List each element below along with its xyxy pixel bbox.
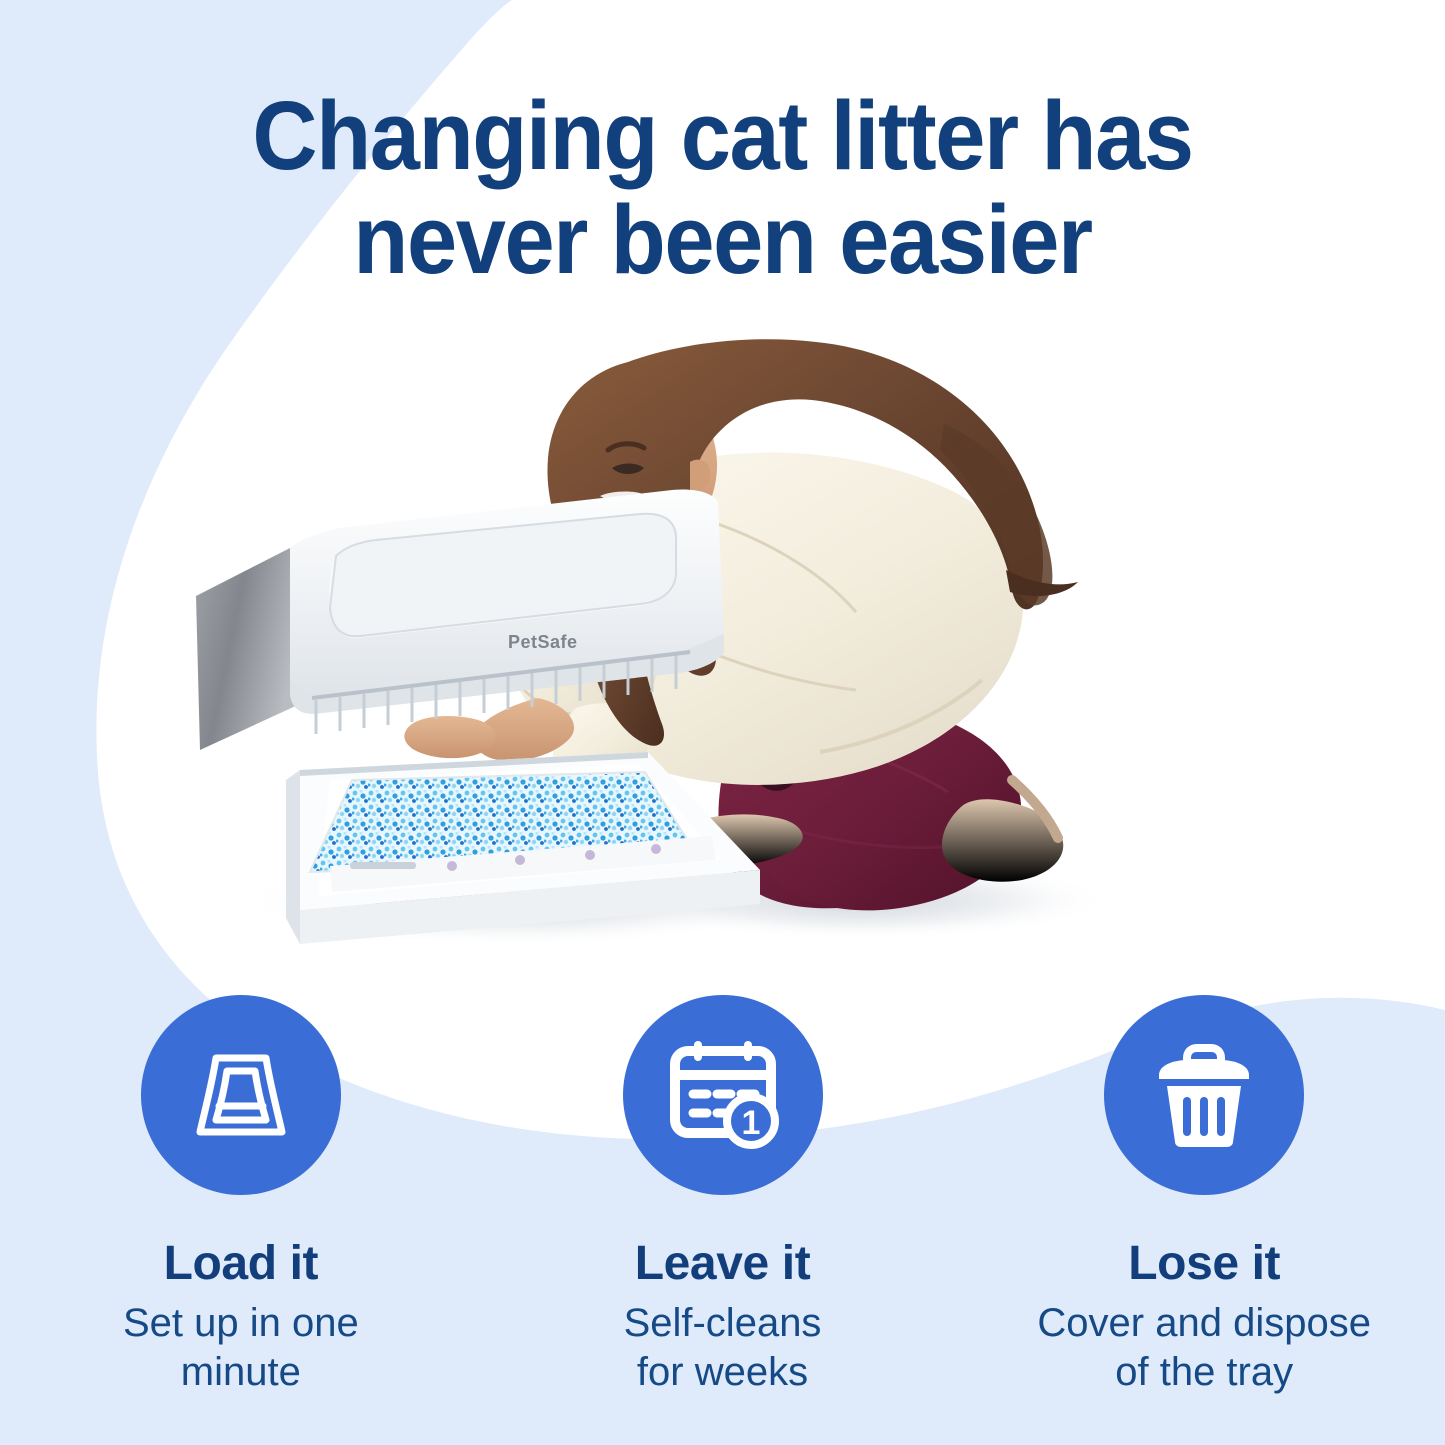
calendar-one-icon: 1: [623, 995, 823, 1195]
feature-item-load-it[interactable]: Load it Set up in one minute: [0, 995, 482, 1445]
feature-description: Set up in one minute: [123, 1299, 359, 1397]
hero-image: PetSafe: [0, 300, 1445, 980]
feature-list: Load it Set up in one minute: [0, 995, 1445, 1445]
feature-title: Leave it: [635, 1239, 811, 1289]
feature-title: Lose it: [1128, 1239, 1280, 1289]
product-brand-label: PetSafe: [508, 632, 578, 652]
feature-description: Cover and dispose of the tray: [1037, 1299, 1371, 1397]
trash-can-icon: [1104, 995, 1304, 1195]
feature-description: Self-cleans for weeks: [624, 1299, 822, 1397]
feature-item-leave-it[interactable]: 1 Leave it Self-cleans for weeks: [482, 995, 964, 1445]
feature-item-lose-it[interactable]: Lose it Cover and dispose of the tray: [963, 995, 1445, 1445]
page-title: Changing cat litter has never been easie…: [51, 84, 1395, 292]
feature-title: Load it: [164, 1239, 319, 1289]
calendar-badge-number: 1: [741, 1104, 760, 1142]
litter-tray-icon: [141, 995, 341, 1195]
marketing-infographic: Changing cat litter has never been easie…: [0, 0, 1445, 1445]
